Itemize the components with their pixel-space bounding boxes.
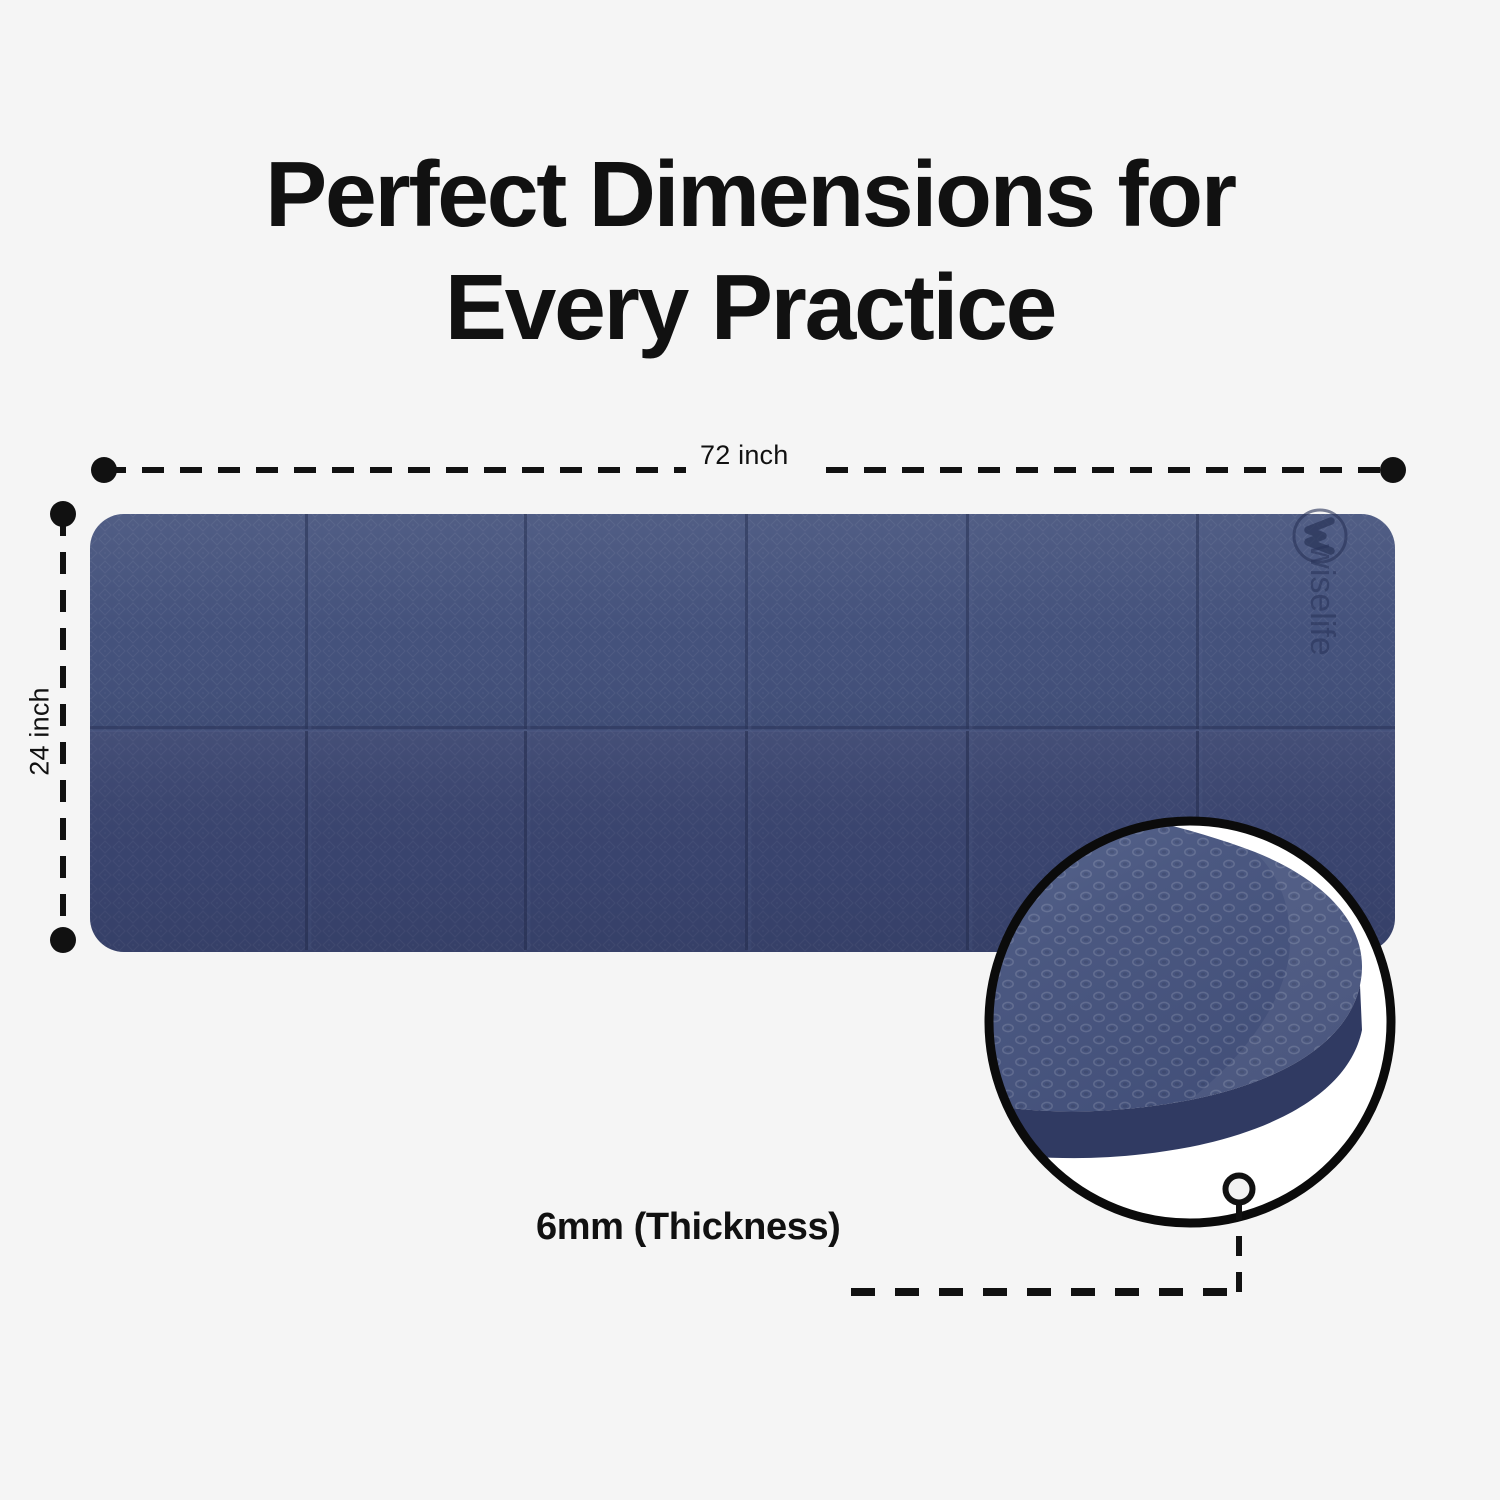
thickness-pin-dot [1226,1176,1253,1203]
width-dim-dot-bottom [50,927,76,953]
product-illustration: wiselife [0,0,1500,1500]
infographic-canvas: Perfect Dimensions for Every Practice [0,0,1500,1500]
brand-wordmark: wiselife [1303,543,1341,655]
length-dim-dot-right [1380,457,1406,483]
thickness-label: 6mm (Thickness) [536,1206,840,1249]
length-dimension-label: 72 inch [700,440,788,471]
width-dim-dot-top [50,501,76,527]
length-dim-dot-left [91,457,117,483]
width-dimension-label: 24 inch [25,687,56,775]
